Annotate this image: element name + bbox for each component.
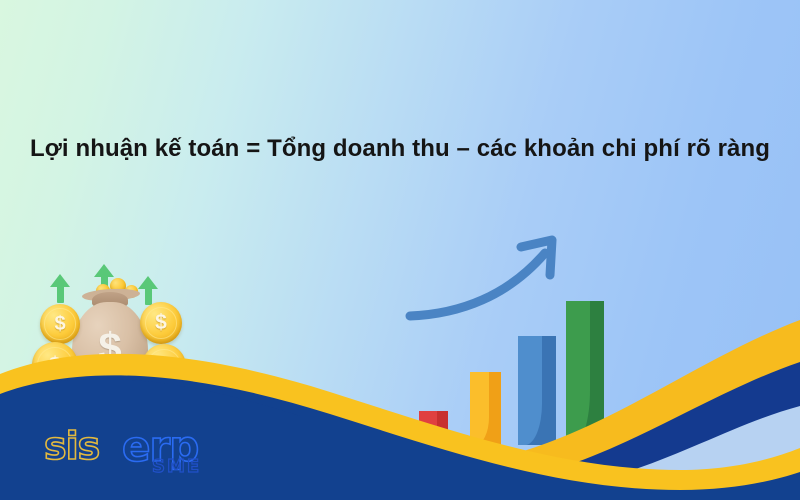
promo-banner: Lợi nhuận kế toán = Tổng doanh thu – các… xyxy=(0,0,800,500)
page-title: Lợi nhuận kế toán = Tổng doanh thu – các… xyxy=(0,135,800,163)
logo-sis-text: sis xyxy=(44,424,99,468)
logo-sme-text: SME xyxy=(152,456,201,477)
brand-logo[interactable]: sis erp SME xyxy=(44,424,254,484)
